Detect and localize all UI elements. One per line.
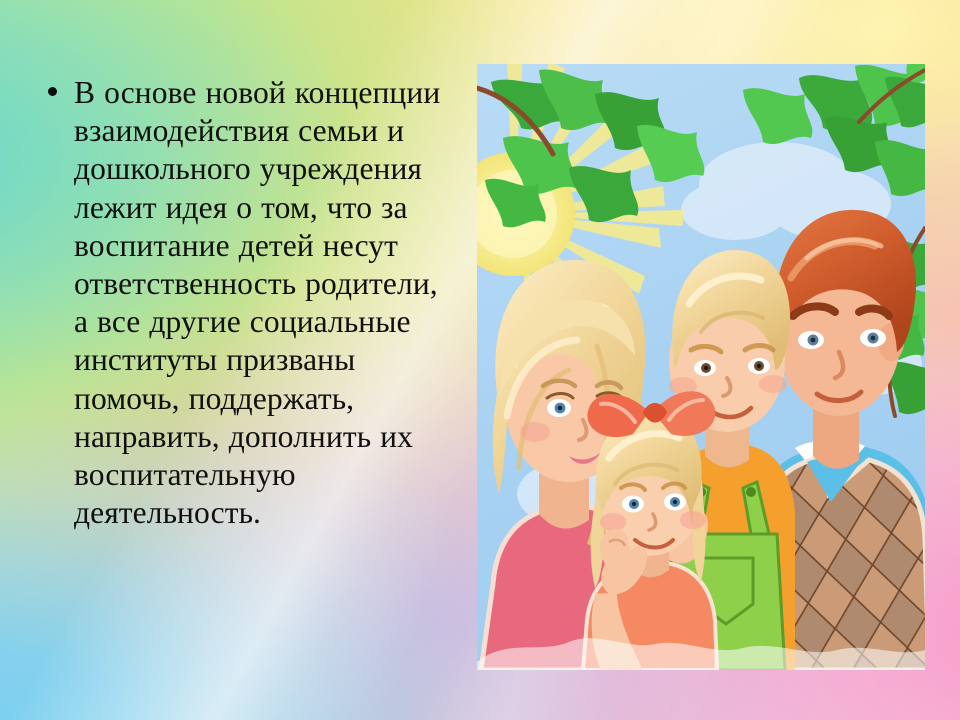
bullet-item-text: В основе новой концепции взаимодействия … xyxy=(74,74,448,532)
bullet-list-item: В основе новой концепции взаимодействия … xyxy=(48,74,448,532)
presentation-slide: В основе новой концепции взаимодействия … xyxy=(0,0,960,720)
figure-daughter xyxy=(583,391,717,670)
slide-body-text: В основе новой концепции взаимодействия … xyxy=(48,74,448,532)
son-overall-button-right xyxy=(746,487,756,497)
bullet-dot-icon xyxy=(48,74,74,96)
family-illustration xyxy=(477,64,925,670)
family-illustration-svg xyxy=(477,64,925,670)
